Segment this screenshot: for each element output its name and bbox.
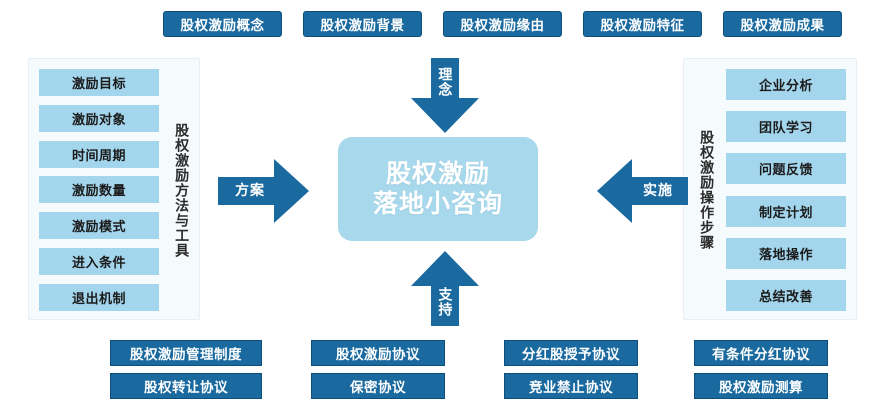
left-panel-item-1[interactable]: 激励对象	[39, 105, 159, 132]
bottom-group-3: 有条件分红协议 股权激励测算	[694, 340, 828, 399]
bottom-group-1: 股权激励协议 保密协议	[311, 340, 445, 399]
bottom-chip-1-1[interactable]: 保密协议	[311, 373, 445, 399]
left-panel-item-2[interactable]: 时间周期	[39, 141, 159, 168]
core-title-line-1: 股权激励	[386, 159, 490, 190]
top-chip-1[interactable]: 股权激励背景	[303, 11, 422, 37]
right-panel-items: 企业分析 团队学习 问题反馈 制定计划 落地操作 总结改善	[726, 69, 846, 311]
bottom-group-0: 股权激励管理制度 股权转让协议	[110, 340, 262, 399]
arrow-right: 实施	[596, 158, 688, 224]
core-title-line-2: 落地小咨询	[373, 189, 503, 220]
arrow-right-label: 实施	[634, 176, 682, 204]
right-panel-item-3[interactable]: 制定计划	[726, 196, 846, 227]
top-chip-2[interactable]: 股权激励缘由	[443, 11, 562, 37]
bottom-chip-0-0[interactable]: 股权激励管理制度	[110, 340, 262, 366]
top-chip-0[interactable]: 股权激励概念	[163, 11, 282, 37]
bottom-group-2: 分红股授予协议 竞业禁止协议	[504, 340, 638, 399]
left-panel-item-5[interactable]: 进入条件	[39, 248, 159, 275]
arrow-top: 理念	[409, 58, 481, 134]
left-panel-item-6[interactable]: 退出机制	[39, 284, 159, 311]
bottom-chip-2-0[interactable]: 分红股授予协议	[504, 340, 638, 366]
right-panel-item-0[interactable]: 企业分析	[726, 69, 846, 100]
diagram-canvas: 股权激励概念 股权激励背景 股权激励缘由 股权激励特征 股权激励成果 股权激励方…	[0, 0, 871, 412]
arrow-left-label: 方案	[226, 176, 274, 204]
right-panel-title: 股权激励操作步骤	[694, 71, 720, 309]
center-core-card: 股权激励 落地小咨询	[338, 137, 538, 241]
bottom-chip-3-0[interactable]: 有条件分红协议	[694, 340, 828, 366]
arrow-top-label: 理念	[431, 62, 459, 102]
bottom-chip-3-1[interactable]: 股权激励测算	[694, 373, 828, 399]
left-panel: 股权激励方法与工具 激励目标 激励对象 时间周期 激励数量 激励模式 进入条件 …	[28, 58, 200, 320]
right-panel-item-5[interactable]: 总结改善	[726, 280, 846, 311]
arrow-bottom-label: 支持	[431, 281, 459, 323]
bottom-chip-2-1[interactable]: 竞业禁止协议	[504, 373, 638, 399]
left-panel-items: 激励目标 激励对象 时间周期 激励数量 激励模式 进入条件 退出机制	[39, 69, 159, 311]
right-panel-item-4[interactable]: 落地操作	[726, 238, 846, 269]
arrow-bottom: 支持	[409, 249, 481, 327]
arrow-left: 方案	[218, 158, 310, 224]
right-panel-item-2[interactable]: 问题反馈	[726, 153, 846, 184]
bottom-chip-0-1[interactable]: 股权转让协议	[110, 373, 262, 399]
left-panel-title: 股权激励方法与工具	[169, 71, 195, 309]
bottom-chip-1-0[interactable]: 股权激励协议	[311, 340, 445, 366]
left-panel-item-4[interactable]: 激励模式	[39, 212, 159, 239]
right-panel-item-1[interactable]: 团队学习	[726, 111, 846, 142]
top-chip-3[interactable]: 股权激励特征	[583, 11, 702, 37]
left-panel-item-3[interactable]: 激励数量	[39, 176, 159, 203]
left-panel-item-0[interactable]: 激励目标	[39, 69, 159, 96]
right-panel: 股权激励操作步骤 企业分析 团队学习 问题反馈 制定计划 落地操作 总结改善	[683, 58, 857, 320]
top-chip-4[interactable]: 股权激励成果	[723, 11, 842, 37]
